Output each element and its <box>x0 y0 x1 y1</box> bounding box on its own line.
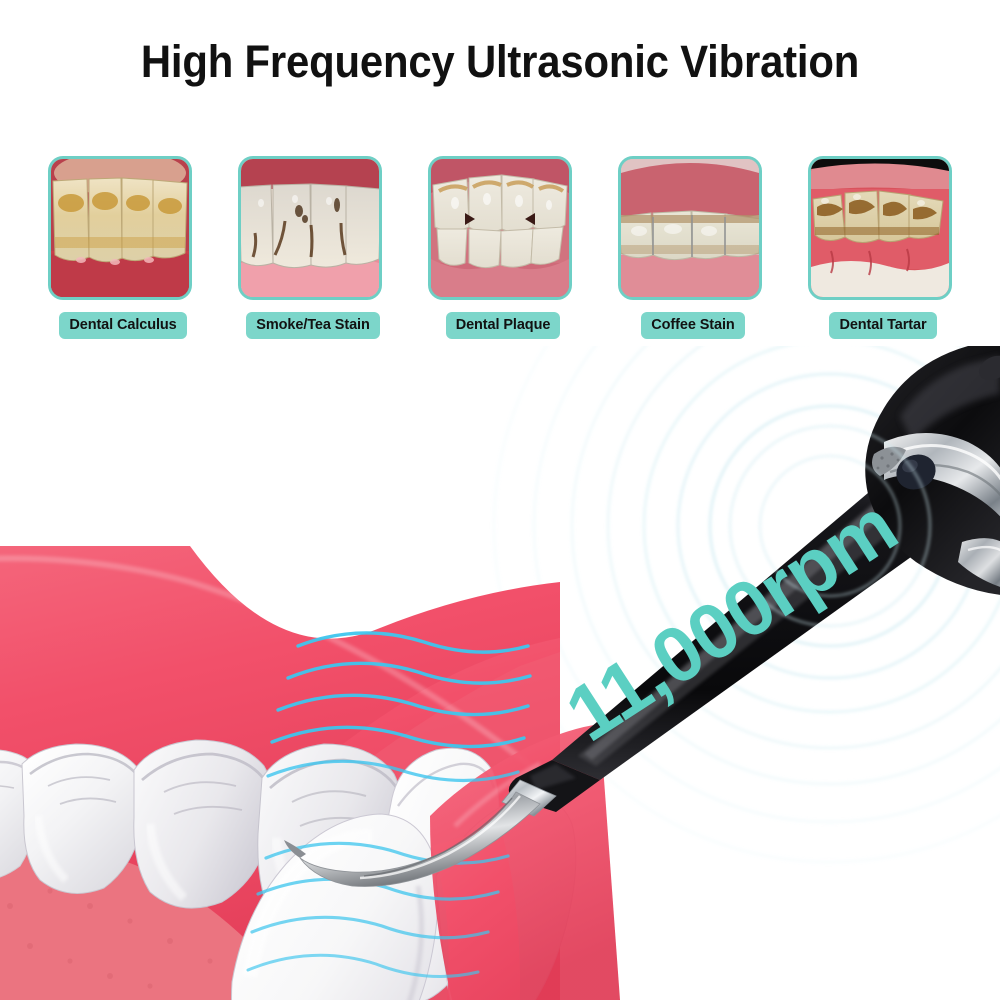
teeth-and-scaler-scene <box>0 346 1000 1000</box>
thumbnail-frame <box>238 156 382 300</box>
thumbnail-frame <box>808 156 952 300</box>
product-marketing-image: High Frequency Ultrasonic Vibration <box>0 0 1000 1000</box>
conditions-strip: Dental Calculus <box>0 156 1000 346</box>
condition-card-coffee-stain[interactable]: Coffee Stain <box>618 156 768 339</box>
page-title: High Frequency Ultrasonic Vibration <box>35 36 965 88</box>
thumbnail-frame <box>48 156 192 300</box>
condition-card-dental-tartar[interactable]: Dental Tartar <box>808 156 958 339</box>
dental-calculus-photo <box>51 159 189 297</box>
condition-label: Coffee Stain <box>641 312 744 339</box>
condition-card-dental-plaque[interactable]: Dental Plaque <box>428 156 578 339</box>
condition-label: Dental Tartar <box>829 312 936 339</box>
thumbnail-frame <box>618 156 762 300</box>
smoke-tea-stain-photo <box>241 159 379 297</box>
main-illustration <box>0 346 1000 1000</box>
dental-tartar-photo <box>811 159 949 297</box>
dental-plaque-photo <box>431 159 569 297</box>
condition-label: Dental Calculus <box>59 312 186 339</box>
coffee-stain-photo <box>621 159 759 297</box>
thumbnail-frame <box>428 156 572 300</box>
condition-card-smoke-tea-stain[interactable]: Smoke/Tea Stain <box>238 156 388 339</box>
condition-label: Smoke/Tea Stain <box>246 312 379 339</box>
condition-label: Dental Plaque <box>446 312 561 339</box>
condition-card-dental-calculus[interactable]: Dental Calculus <box>48 156 198 339</box>
